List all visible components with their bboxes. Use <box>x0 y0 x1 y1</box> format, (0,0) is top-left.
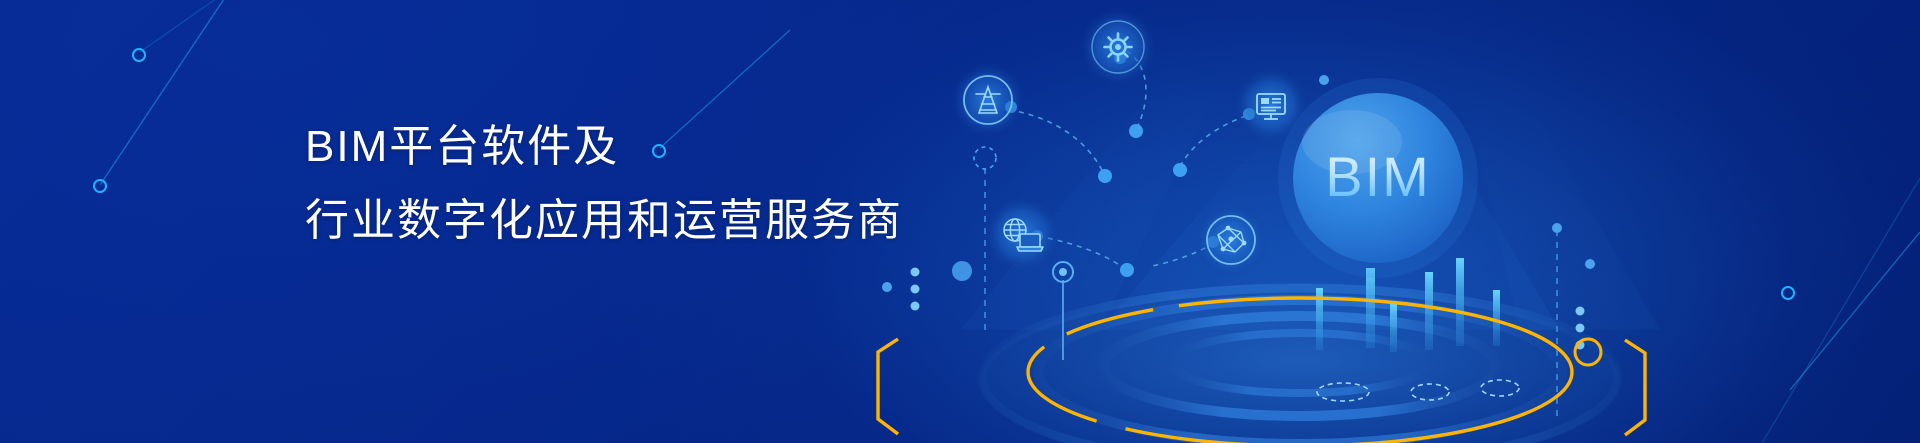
dot <box>1319 75 1329 85</box>
data-bar <box>1493 290 1500 346</box>
dot <box>1576 324 1585 333</box>
bim-sphere: BIM <box>1278 78 1478 278</box>
stem-cap-4 <box>1552 223 1562 233</box>
monitor-icon <box>1234 68 1308 142</box>
hero-banner: BIM平台软件及 行业数字化应用和运营服务商 <box>0 0 1920 443</box>
dot <box>882 282 892 292</box>
network-node-icon <box>1193 202 1269 278</box>
node-dot <box>1173 163 1187 177</box>
node-dot <box>1129 124 1143 138</box>
stem-dot-3 <box>1059 268 1067 276</box>
sphere-label: BIM <box>1325 145 1431 208</box>
right-bracket <box>1625 340 1645 435</box>
dot <box>1576 307 1585 316</box>
globe-laptop-icon <box>984 196 1060 272</box>
node-dot <box>1098 169 1112 183</box>
data-bar <box>1456 258 1464 346</box>
dot <box>952 261 972 281</box>
left-bracket <box>878 339 898 434</box>
monitor-halo <box>1234 68 1308 142</box>
node-dot <box>1120 263 1134 277</box>
connector-tower <box>1009 110 1103 172</box>
bim-illustration: BIM <box>0 0 1920 443</box>
data-bar <box>1425 272 1433 350</box>
data-bar <box>1366 268 1375 348</box>
dot <box>911 285 920 294</box>
connector-monitor <box>1180 116 1246 166</box>
base-platform <box>980 288 1620 443</box>
dot <box>911 302 920 311</box>
data-bar <box>1390 304 1397 352</box>
tower-halo <box>951 63 1025 137</box>
stem-cap-1 <box>974 147 996 169</box>
dot <box>911 268 920 277</box>
gear-icon <box>1080 9 1156 85</box>
power-tower-icon <box>951 63 1025 137</box>
dot <box>1585 259 1595 269</box>
